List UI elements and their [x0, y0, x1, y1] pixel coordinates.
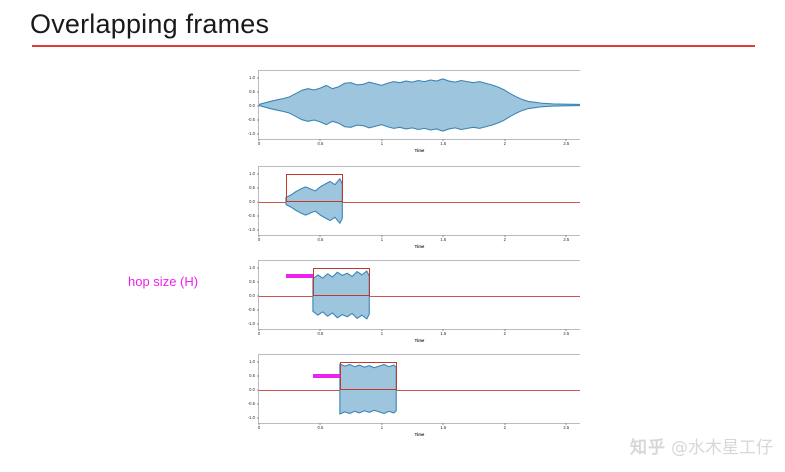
x-tick-mark	[443, 139, 444, 141]
watermark: 知乎 @水木星工仔	[630, 433, 773, 458]
frame-rectangle-frame-1	[286, 174, 343, 202]
y-tick-label: 0.5	[249, 90, 255, 94]
x-tick-label: 2.5	[563, 426, 569, 430]
x-tick-label: 2.5	[563, 238, 569, 242]
x-tick-label: 1.5	[440, 238, 446, 242]
waveform-plot-frame-2	[259, 261, 580, 329]
x-tick-mark	[259, 235, 260, 237]
x-tick-label: 1	[381, 238, 383, 242]
y-tick-label: 0.0	[249, 104, 255, 108]
waveform-panel-frame-2: 1.00.50.0-0.5-1.000.511.522.5Time	[232, 256, 584, 349]
waveform-plot-frame-3	[259, 355, 580, 423]
x-tick-mark	[381, 139, 382, 141]
page-title: Overlapping frames	[30, 6, 269, 42]
x-tick-mark	[504, 423, 505, 425]
y-tick-label: 1.0	[249, 266, 255, 270]
x-axis-label: Time	[415, 339, 425, 343]
y-tick-mark	[257, 282, 259, 283]
x-tick-mark	[504, 329, 505, 331]
x-tick-label: 1.5	[440, 142, 446, 146]
x-tick-mark	[381, 423, 382, 425]
x-tick-label: 2.5	[563, 332, 569, 336]
waveform-plot-full-waveform	[259, 71, 580, 139]
y-tick-mark	[257, 78, 259, 79]
x-tick-mark	[566, 235, 567, 237]
y-tick-label: 1.0	[249, 360, 255, 364]
x-axis-label: Time	[415, 149, 425, 153]
x-tick-label: 0.5	[318, 426, 324, 430]
x-tick-mark	[320, 139, 321, 141]
x-axis-label: Time	[415, 433, 425, 437]
x-tick-mark	[504, 235, 505, 237]
x-tick-label: 1.5	[440, 426, 446, 430]
x-tick-mark	[259, 423, 260, 425]
x-tick-mark	[566, 423, 567, 425]
frame-rectangle-frame-3	[340, 362, 397, 390]
y-tick-label: 1.0	[249, 76, 255, 80]
y-tick-mark	[257, 134, 259, 135]
y-tick-label: -1.0	[248, 416, 255, 420]
hop-size-annotation-label: hop size (H)	[128, 275, 198, 288]
waveform-panel-frame-3: 1.00.50.0-0.5-1.000.511.522.5Time	[232, 350, 584, 443]
y-tick-mark	[257, 404, 259, 405]
x-tick-label: 2	[504, 238, 506, 242]
x-tick-label: 0	[258, 332, 260, 336]
x-tick-mark	[320, 235, 321, 237]
y-tick-label: -1.0	[248, 132, 255, 136]
waveform-panel-frame-1: 1.00.50.0-0.5-1.000.511.522.5Time	[232, 162, 584, 255]
y-tick-label: -1.0	[248, 228, 255, 232]
hop-size-bar-frame-3	[313, 374, 340, 378]
y-tick-mark	[257, 268, 259, 269]
waveform-envelope	[259, 79, 580, 131]
x-tick-mark	[504, 139, 505, 141]
x-tick-label: 0.5	[318, 142, 324, 146]
x-tick-mark	[381, 329, 382, 331]
y-tick-mark	[257, 324, 259, 325]
y-tick-label: 0.5	[249, 280, 255, 284]
y-tick-label: -0.5	[248, 402, 255, 406]
title-underline-rule	[32, 45, 755, 47]
y-tick-mark	[257, 216, 259, 217]
x-tick-mark	[320, 423, 321, 425]
x-tick-label: 2.5	[563, 142, 569, 146]
y-tick-mark	[257, 390, 259, 391]
x-tick-label: 0	[258, 238, 260, 242]
y-tick-label: 0.0	[249, 200, 255, 204]
x-tick-mark	[259, 139, 260, 141]
x-tick-mark	[320, 329, 321, 331]
x-tick-mark	[443, 235, 444, 237]
y-tick-label: 0.0	[249, 294, 255, 298]
y-tick-mark	[257, 202, 259, 203]
x-tick-mark	[259, 329, 260, 331]
watermark-site-name: 知乎	[630, 433, 666, 458]
y-tick-mark	[257, 120, 259, 121]
x-tick-label: 1	[381, 332, 383, 336]
x-tick-mark	[381, 235, 382, 237]
y-tick-mark	[257, 174, 259, 175]
axes-full-waveform: 1.00.50.0-0.5-1.000.511.522.5Time	[258, 70, 580, 140]
y-tick-mark	[257, 106, 259, 107]
y-tick-label: -1.0	[248, 322, 255, 326]
x-tick-mark	[443, 329, 444, 331]
x-tick-label: 1	[381, 142, 383, 146]
y-tick-mark	[257, 362, 259, 363]
x-tick-label: 1.5	[440, 332, 446, 336]
y-tick-mark	[257, 296, 259, 297]
y-tick-label: 1.0	[249, 172, 255, 176]
y-tick-label: -0.5	[248, 118, 255, 122]
watermark-handle: @水木星工仔	[671, 433, 773, 458]
x-tick-label: 1	[381, 426, 383, 430]
x-tick-label: 2	[504, 332, 506, 336]
x-tick-label: 0	[258, 142, 260, 146]
axes-frame-3: 1.00.50.0-0.5-1.000.511.522.5Time	[258, 354, 580, 424]
waveform-panel-full: 1.00.50.0-0.5-1.000.511.522.5Time	[232, 66, 584, 159]
axes-frame-2: 1.00.50.0-0.5-1.000.511.522.5Time	[258, 260, 580, 330]
x-axis-label: Time	[415, 245, 425, 249]
y-tick-label: 0.5	[249, 374, 255, 378]
x-tick-label: 0.5	[318, 332, 324, 336]
y-tick-mark	[257, 376, 259, 377]
y-tick-label: -0.5	[248, 308, 255, 312]
waveform-figure-stack: 1.00.50.0-0.5-1.000.511.522.5Time 1.00.5…	[232, 66, 584, 456]
y-tick-mark	[257, 418, 259, 419]
y-tick-mark	[257, 310, 259, 311]
y-tick-label: 0.5	[249, 186, 255, 190]
hop-size-bar-frame-2	[286, 274, 313, 278]
y-tick-label: -0.5	[248, 214, 255, 218]
frame-rectangle-frame-2	[313, 268, 370, 296]
y-tick-mark	[257, 92, 259, 93]
y-tick-mark	[257, 230, 259, 231]
y-tick-label: 0.0	[249, 388, 255, 392]
x-tick-label: 0	[258, 426, 260, 430]
x-tick-label: 2	[504, 142, 506, 146]
x-tick-mark	[566, 139, 567, 141]
x-tick-mark	[566, 329, 567, 331]
y-tick-mark	[257, 188, 259, 189]
x-tick-label: 0.5	[318, 238, 324, 242]
axes-frame-1: 1.00.50.0-0.5-1.000.511.522.5Time	[258, 166, 580, 236]
x-tick-label: 2	[504, 426, 506, 430]
x-tick-mark	[443, 423, 444, 425]
